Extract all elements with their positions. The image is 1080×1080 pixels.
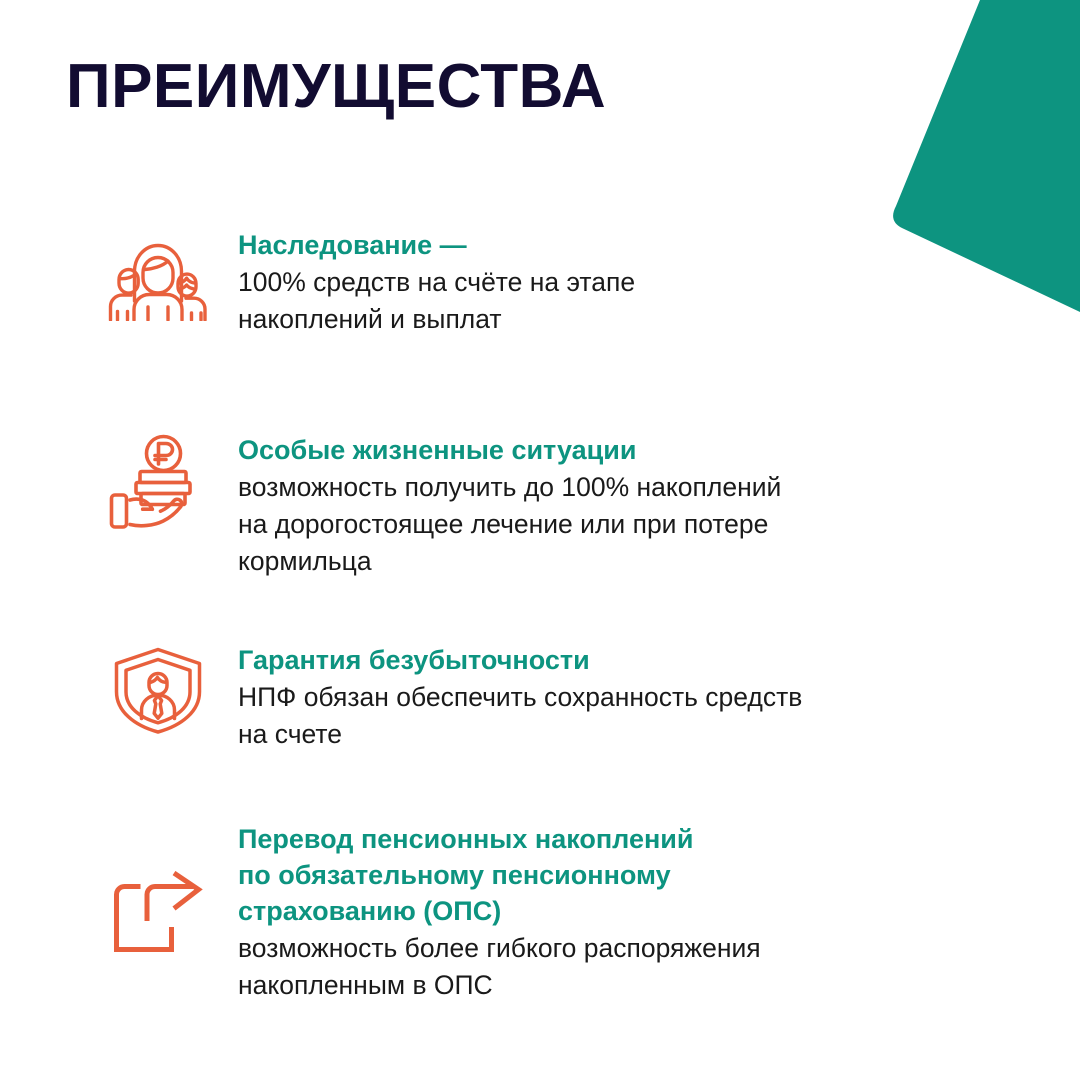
benefit-heading: Особые жизненные ситуации (238, 432, 1040, 468)
benefit-heading: Наследование — (238, 227, 1040, 263)
benefit-body: Особые жизненные ситуации возможность по… (238, 430, 1040, 580)
benefit-text: возможность более гибкого распоряжения н… (238, 930, 1040, 1004)
benefit-text: возможность получить до 100% накоплений … (238, 469, 1040, 580)
benefit-item-ops-transfer: Перевод пенсионных накоплений по обязате… (0, 819, 1080, 1004)
benefit-body: Перевод пенсионных накоплений по обязате… (238, 819, 1040, 1004)
benefits-list: Наследование — 100% средств на счёте на … (0, 225, 1080, 1004)
slide-root: ПРЕИМУЩЕСТВА (0, 0, 1080, 1080)
benefit-heading: Перевод пенсионных накоплений по обязате… (238, 821, 1040, 929)
hand-holding-ruble-coins-icon (78, 430, 238, 530)
benefit-item-breakeven-guarantee: Гарантия безубыточности НПФ обязан обесп… (0, 640, 1080, 753)
benefit-heading: Гарантия безубыточности (238, 642, 1040, 678)
benefit-item-inheritance: Наследование — 100% средств на счёте на … (0, 225, 1080, 338)
family-group-icon (78, 225, 238, 321)
export-arrow-icon (78, 819, 238, 955)
page-title: ПРЕИМУЩЕСТВА (66, 56, 606, 118)
benefit-text: НПФ обязан обеспечить сохранность средст… (238, 679, 1040, 753)
benefit-text: 100% средств на счёте на этапе накоплени… (238, 264, 1040, 338)
benefit-body: Наследование — 100% средств на счёте на … (238, 225, 1040, 338)
benefit-body: Гарантия безубыточности НПФ обязан обесп… (238, 640, 1040, 753)
shield-person-icon (78, 640, 238, 734)
benefit-item-special-situations: Особые жизненные ситуации возможность по… (0, 430, 1080, 580)
